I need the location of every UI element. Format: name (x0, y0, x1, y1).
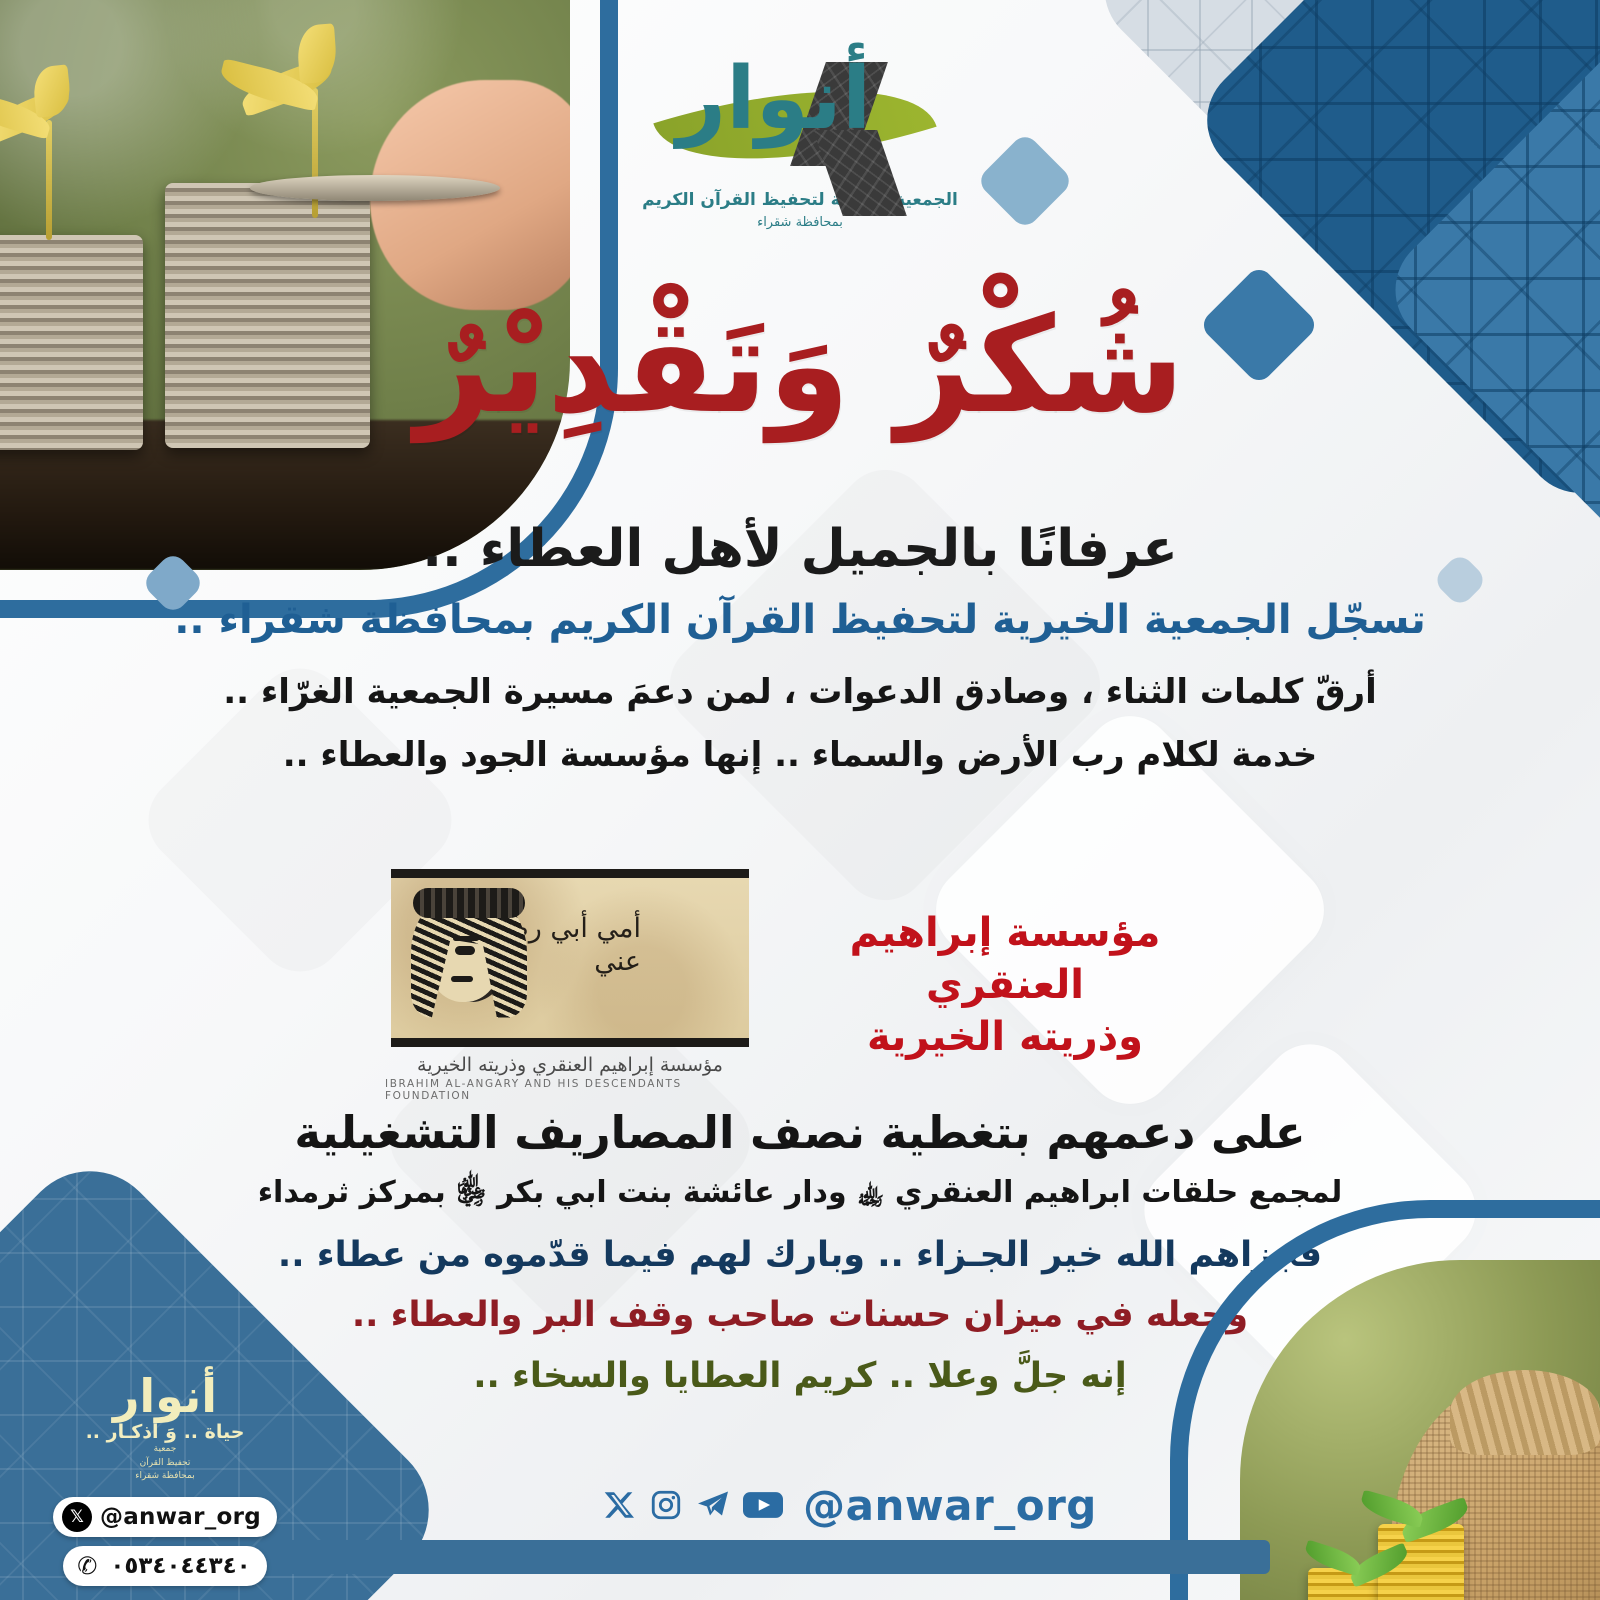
footer-bar (290, 1540, 1270, 1574)
panel-brand-sub-2: تحفيظ القرآن (86, 1458, 245, 1469)
intro-line-2: تسجّل الجمعية الخيرية لتحفيظ القرآن الكر… (60, 594, 1540, 647)
donor-name: مؤسسة إبراهيم العنقري وذريته الخيرية (795, 907, 1215, 1063)
panel-brand-sub-3: بمحافظة شقراء (86, 1471, 245, 1482)
donor-name-line-1: مؤسسة إبراهيم العنقري (795, 907, 1215, 1011)
association-city: بمحافظة شقراء (590, 215, 1010, 230)
whatsapp-pill[interactable]: ✆ ٠٥٣٤٠٤٤٣٤٠ (63, 1546, 266, 1586)
intro-line-4: خدمة لكلام رب الأرض والسماء .. إنها مؤسس… (60, 733, 1540, 778)
burlap-sack-neck (1450, 1370, 1600, 1455)
instagram-icon[interactable] (649, 1488, 683, 1522)
dua-line-1: فجزاهم الله خير الجـزاء .. وبارك لهم فيم… (55, 1232, 1545, 1278)
logo-wordmark: أنوار (674, 56, 874, 142)
donor-section: مؤسسة إبراهيم العنقري وذريته الخيرية أمي… (0, 880, 1600, 1090)
footer-handle: @anwar_org (803, 1481, 1097, 1530)
footer-social-row: @anwar_org (430, 1476, 1270, 1534)
foundation-logo-plate: أمي أبي رضي الله عني (391, 869, 749, 1047)
coins-sprouts-photo (0, 0, 570, 570)
panel-tagline: حياة .. وَ أذكـار .. (86, 1423, 245, 1442)
x-handle-text: @anwar_org (100, 1504, 261, 1530)
x-icon: 𝕏 (62, 1502, 92, 1532)
poster-canvas: أنوار الجمعية الخيرية لتحفيظ القرآن الكر… (0, 0, 1600, 1600)
page-title: شُكْرٌ وَتَقْدِيْرٌ (0, 300, 1600, 432)
donor-name-line-2: وذريته الخيرية (795, 1011, 1215, 1063)
support-line-2: لمجمع حلقات ابراهيم العنقري ﵀ ودار عائشة… (55, 1173, 1545, 1212)
panel-brand-word: أنوار (86, 1373, 245, 1419)
association-logo: أنوار الجمعية الخيرية لتحفيظ القرآن الكر… (590, 22, 1010, 230)
x-icon[interactable] (603, 1488, 637, 1522)
support-line-1: على دعمهم بتغطية نصف المصاريف التشغيلية (55, 1105, 1545, 1161)
intro-text-block: عرفانًا بالجميل لأهل العطاء .. تسجّل الج… (60, 515, 1540, 778)
contact-panel: أنوار حياة .. وَ أذكـار .. جمعية تحفيظ ا… (0, 1330, 330, 1600)
logo-graphic: أنوار (590, 22, 1010, 212)
telegram-icon[interactable] (695, 1487, 731, 1523)
youtube-icon[interactable] (743, 1488, 783, 1522)
intro-line-3: أرقّ كلمات الثناء ، وصادق الدعوات ، لمن … (60, 670, 1540, 715)
intro-line-1: عرفانًا بالجميل لأهل العطاء .. (60, 515, 1540, 584)
x-handle-pill[interactable]: 𝕏 @anwar_org (53, 1497, 277, 1537)
whatsapp-number-text: ٠٥٣٤٠٤٤٣٤٠ (110, 1553, 250, 1579)
foundation-caption-ar: مؤسسة إبراهيم العنقري وذريته الخيرية (417, 1054, 723, 1076)
single-coin (250, 175, 500, 201)
portrait-silhouette-icon (399, 882, 539, 1034)
foundation-logo: أمي أبي رضي الله عني مؤسسة إبراهيم العنق… (385, 869, 755, 1102)
whatsapp-icon: ✆ (72, 1551, 102, 1581)
panel-brand-sub-1: جمعية (86, 1444, 245, 1455)
panel-brand-mark: أنوار حياة .. وَ أذكـار .. جمعية تحفيظ ا… (86, 1373, 245, 1482)
foundation-caption-en: IBRAHIM AL-ANGARY AND HIS DESCENDANTS FO… (385, 1078, 755, 1102)
